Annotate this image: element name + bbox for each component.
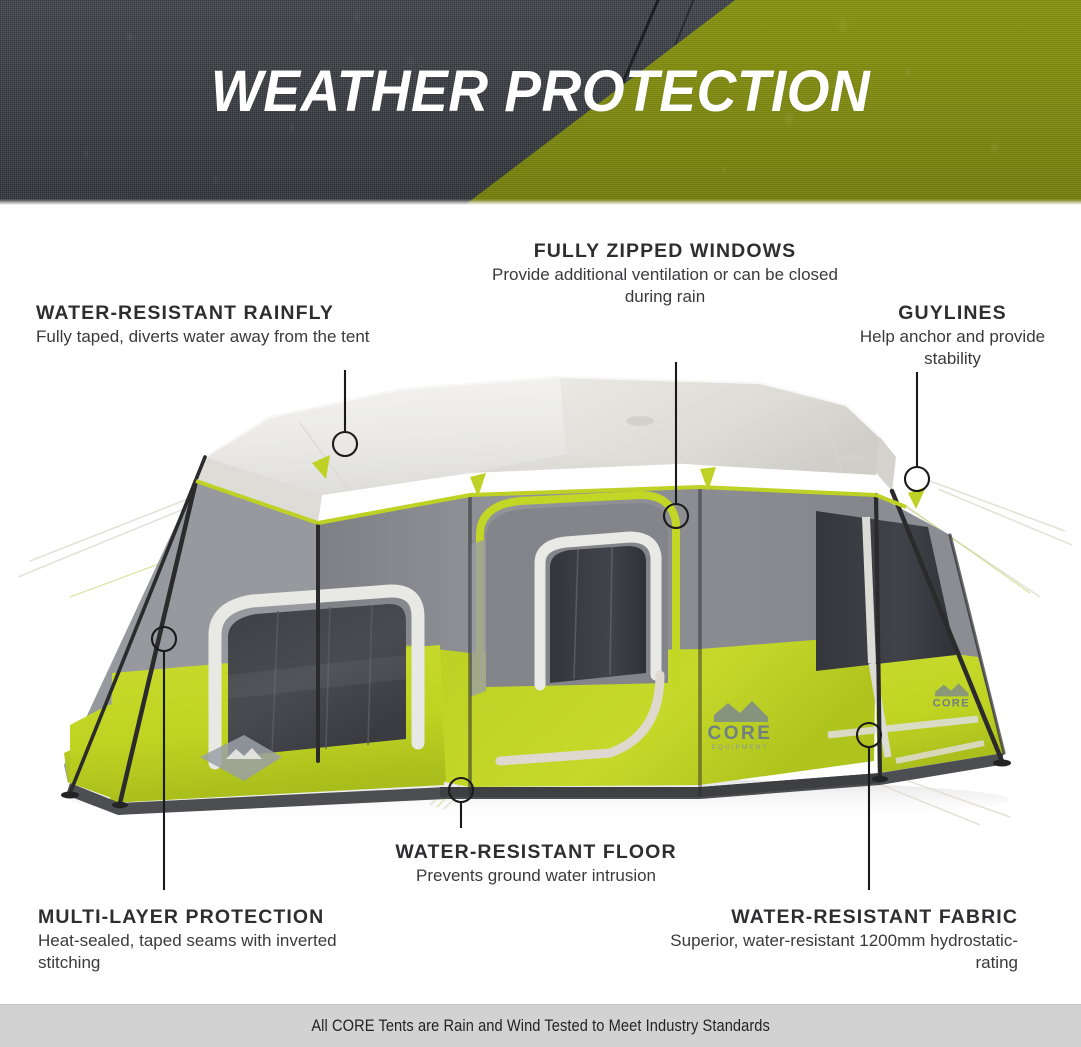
- core-logo-text: CORE: [708, 723, 773, 744]
- infographic-page: WEATHER PROTECTION WATER-RESISTANT RAINF…: [0, 0, 1081, 1047]
- page-title: WEATHER PROTECTION: [27, 58, 1054, 125]
- svg-text:CORE: CORE: [933, 697, 970, 709]
- center-door-mesh: [550, 546, 646, 683]
- core-logo-subtext: EQUIPMENT: [712, 744, 769, 751]
- footer-bar: All CORE Tents are Rain and Wind Tested …: [0, 1004, 1081, 1047]
- tent-product-illustration: CORE EQUIPMENT CORE: [0, 205, 1081, 995]
- footer-text: All CORE Tents are Rain and Wind Tested …: [311, 1016, 770, 1036]
- center-door-side-gray: [470, 539, 486, 697]
- callout-dot-guylines: [905, 467, 929, 491]
- header-banner: WEATHER PROTECTION: [0, 0, 1081, 205]
